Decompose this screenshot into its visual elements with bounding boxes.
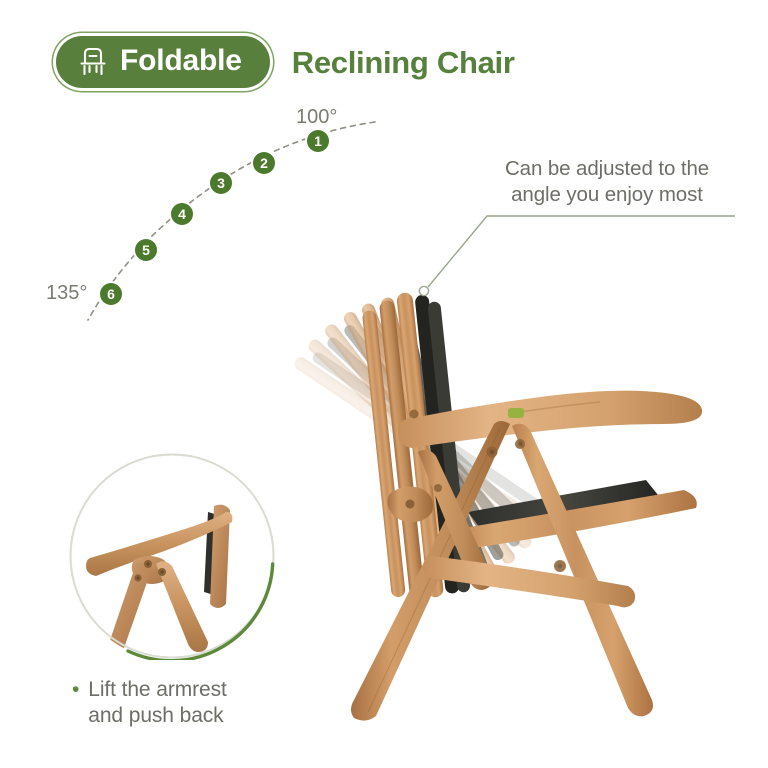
recline-step-badge-2[interactable]: 2 <box>253 152 275 174</box>
recline-step-badge-3[interactable]: 3 <box>210 172 232 194</box>
caption-text: Lift the armrest and push back <box>88 677 226 728</box>
recline-step-badge-1[interactable]: 1 <box>307 130 329 152</box>
callout-text: Can be adjusted to the angle you enjoy m… <box>478 156 736 208</box>
angle-label-max: 135° <box>46 283 87 303</box>
callout-line-2: angle you enjoy most <box>478 182 736 208</box>
angle-label-min: 100° <box>296 107 337 127</box>
caption-bullet: • <box>72 677 79 703</box>
foldable-badge[interactable]: Foldable <box>56 36 270 88</box>
header: Foldable Reclining Chair <box>56 36 515 88</box>
callout-line-1: Can be adjusted to the <box>478 156 736 182</box>
caption-line-2: and push back <box>88 704 223 727</box>
infographic-canvas: Foldable Reclining Chair 100° 135° 12345… <box>0 0 768 768</box>
recline-step-badge-6[interactable]: 6 <box>100 283 122 305</box>
page-title: Reclining Chair <box>292 47 515 78</box>
recline-step-badge-5[interactable]: 5 <box>135 239 157 261</box>
caption-line-1: Lift the armrest <box>88 678 226 701</box>
text-layer: Foldable Reclining Chair 100° 135° 12345… <box>0 0 768 768</box>
chair-icon <box>78 45 108 77</box>
foldable-badge-label: Foldable <box>120 46 242 76</box>
recline-step-badge-4[interactable]: 4 <box>171 203 193 225</box>
bottom-caption: • Lift the armrest and push back <box>72 677 227 728</box>
